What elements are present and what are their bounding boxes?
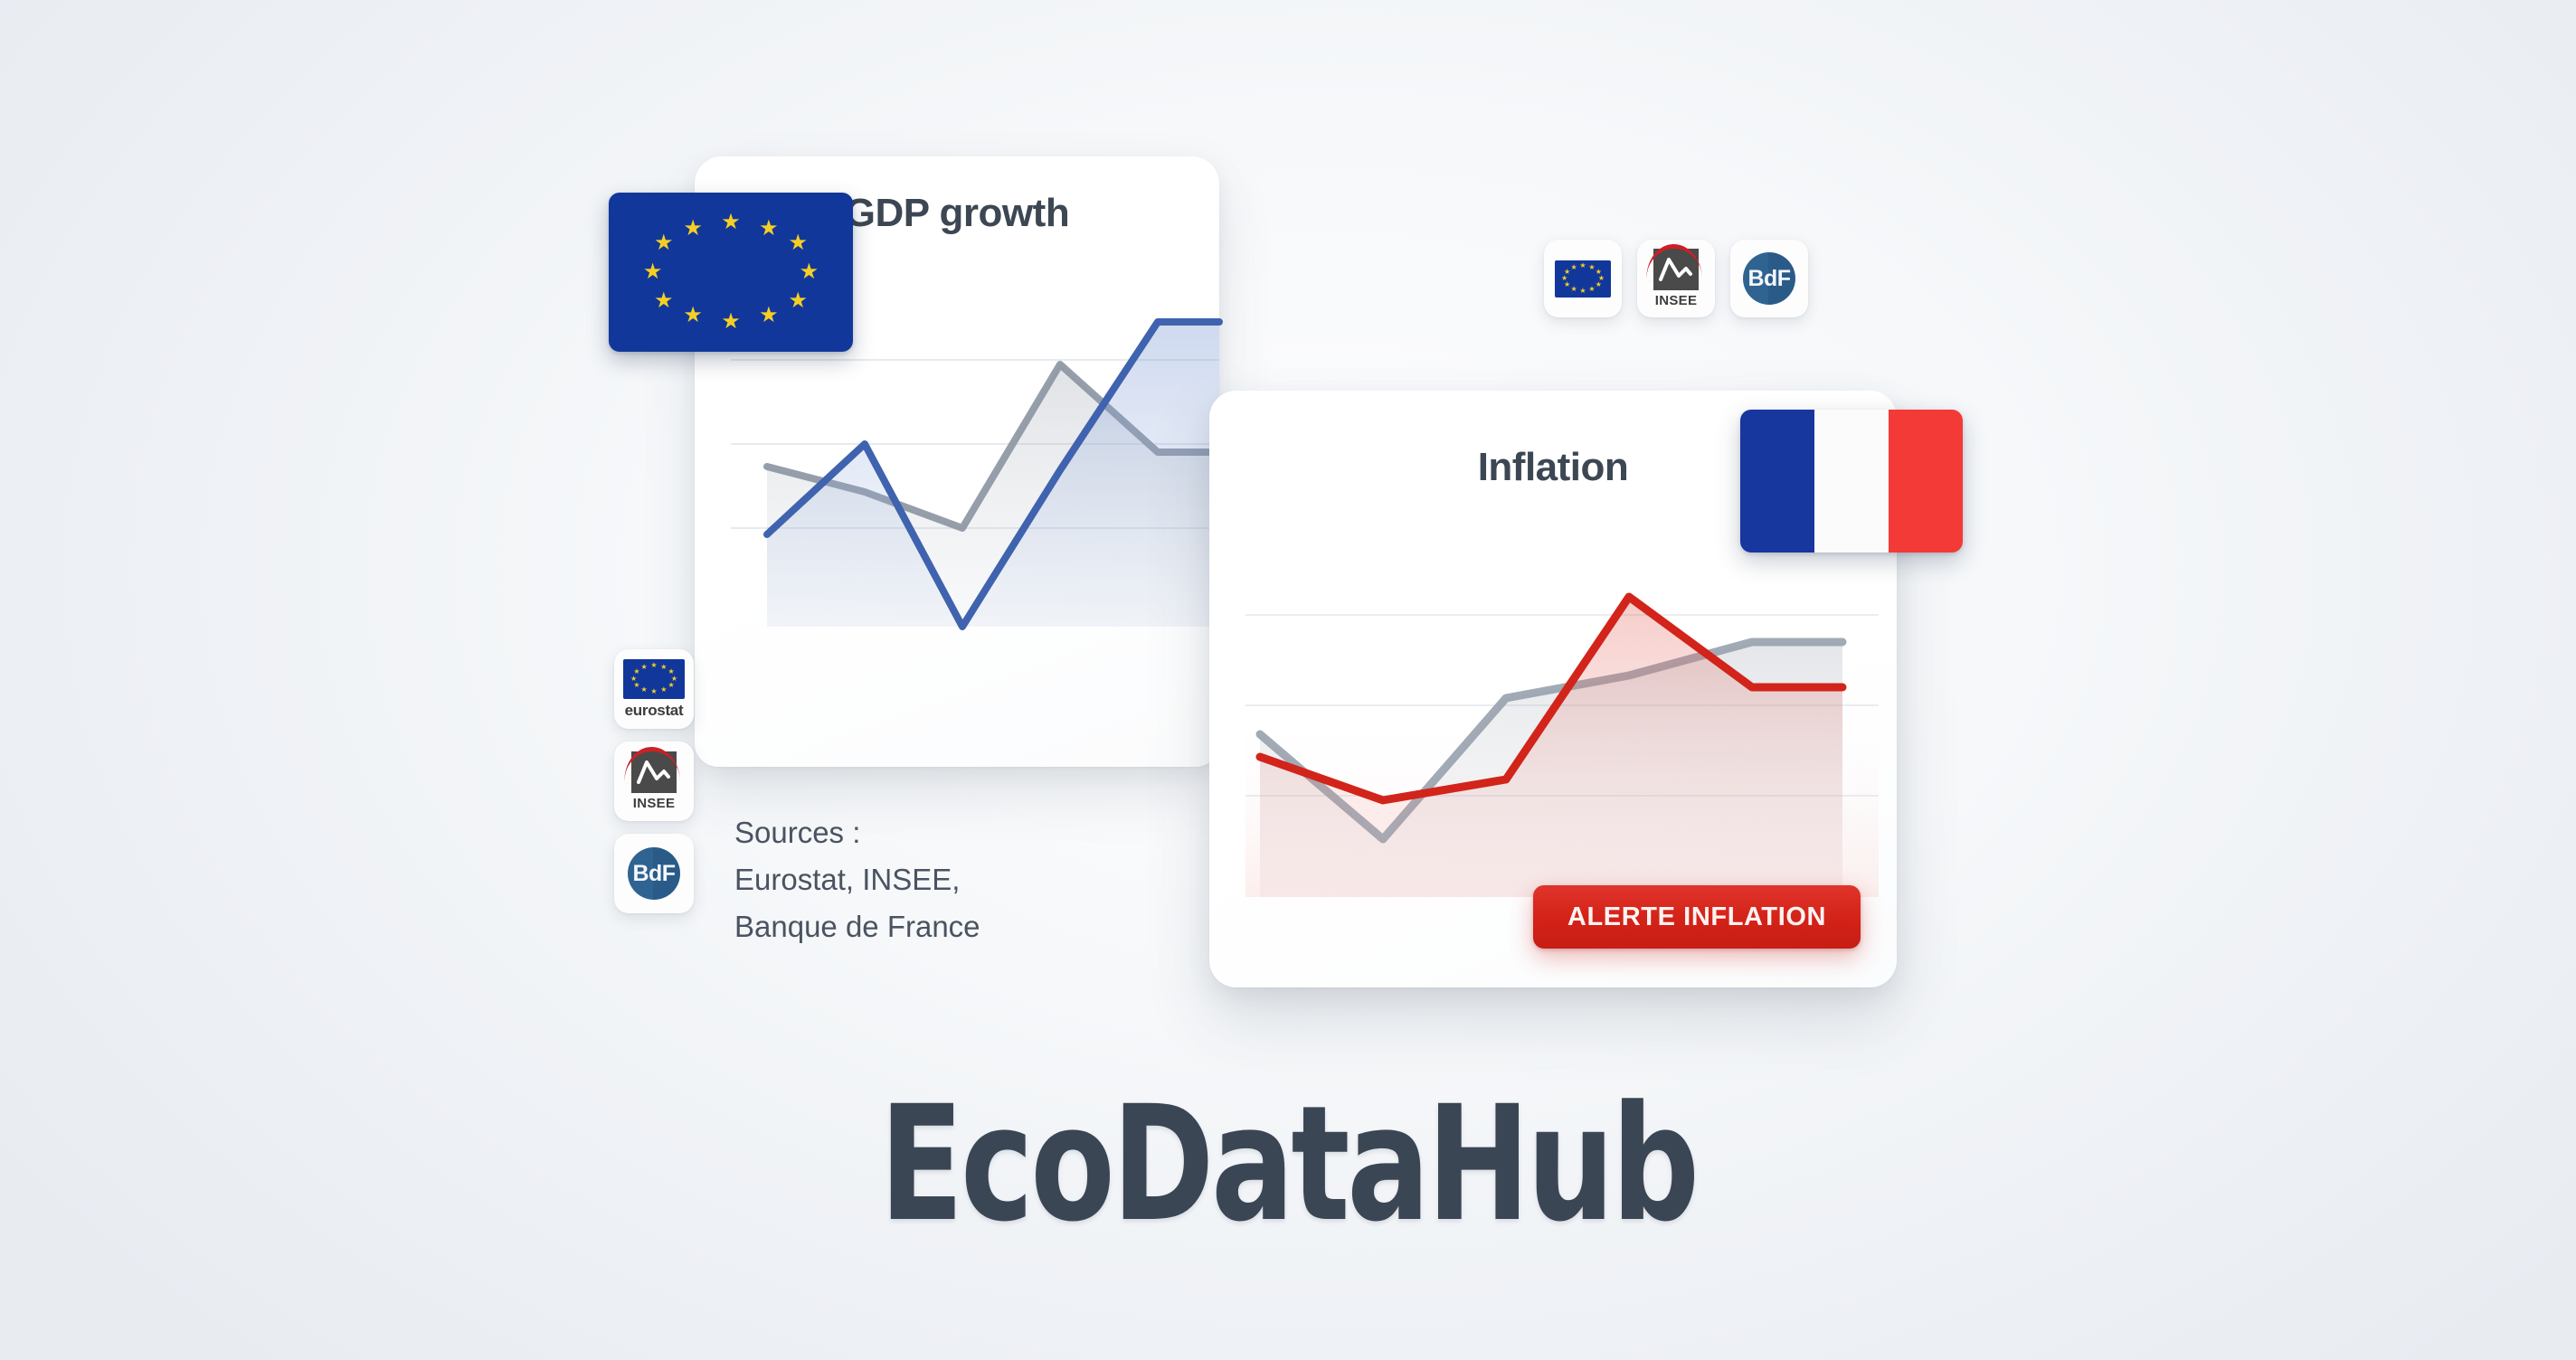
source-badge-eurostat[interactable]: ★ ★ ★ ★ ★ ★ ★ ★ ★ ★ ★ ★ — [1544, 240, 1622, 317]
bdf-logo-icon: BdF — [628, 847, 680, 900]
insee-zigzag-icon — [631, 751, 677, 793]
insee-logo-icon — [631, 751, 677, 793]
eu-stars: ★ ★ ★ ★ ★ ★ ★ ★ ★ ★ ★ ★ — [609, 193, 853, 352]
insee-label: INSEE — [633, 796, 676, 811]
inflation-chart — [1245, 571, 1879, 897]
alerte-inflation-button[interactable]: ALERTE INFLATION — [1533, 885, 1861, 949]
bdf-logo-icon: BdF — [1743, 252, 1795, 305]
insee-zigzag-icon — [1653, 249, 1699, 290]
eurostat-label: eurostat — [625, 702, 684, 720]
france-flag-icon — [1740, 410, 1963, 552]
gdp-growth-chart — [731, 315, 1219, 627]
france-flag-blue-band — [1740, 410, 1814, 552]
sources-badge-insee[interactable]: INSEE — [614, 741, 694, 821]
sources-text-block: Sources : Eurostat, INSEE, Banque de Fra… — [734, 809, 980, 950]
france-flag-red-band — [1889, 410, 1963, 552]
sources-badge-banque-de-france[interactable]: BdF — [614, 834, 694, 913]
sources-badge-column: ★ ★ ★ ★ ★ ★ ★ ★ ★ ★ ★ ★ eurostat — [614, 649, 694, 913]
eu-flag-icon: ★ ★ ★ ★ ★ ★ ★ ★ ★ ★ ★ ★ — [623, 659, 685, 699]
france-flag-white-band — [1814, 410, 1889, 552]
sources-line-3: Banque de France — [734, 903, 980, 950]
sources-badge-eurostat[interactable]: ★ ★ ★ ★ ★ ★ ★ ★ ★ ★ ★ ★ eurostat — [614, 649, 694, 729]
insee-label: INSEE — [1655, 293, 1698, 308]
sources-heading: Sources : — [734, 809, 980, 856]
poster-canvas: GDP growth — [0, 0, 2576, 1360]
eu-flag-icon: ★ ★ ★ ★ ★ ★ ★ ★ ★ ★ ★ ★ — [1555, 260, 1611, 297]
brand-wordmark: EcoDataHub — [180, 1072, 2395, 1257]
source-badge-row: ★ ★ ★ ★ ★ ★ ★ ★ ★ ★ ★ ★ — [1544, 240, 1808, 317]
source-badge-insee[interactable]: INSEE — [1637, 240, 1715, 317]
insee-logo-icon — [1653, 249, 1699, 290]
source-badge-banque-de-france[interactable]: BdF — [1730, 240, 1808, 317]
eu-flag-icon: ★ ★ ★ ★ ★ ★ ★ ★ ★ ★ ★ ★ — [609, 193, 853, 352]
sources-line-2: Eurostat, INSEE, — [734, 856, 980, 903]
